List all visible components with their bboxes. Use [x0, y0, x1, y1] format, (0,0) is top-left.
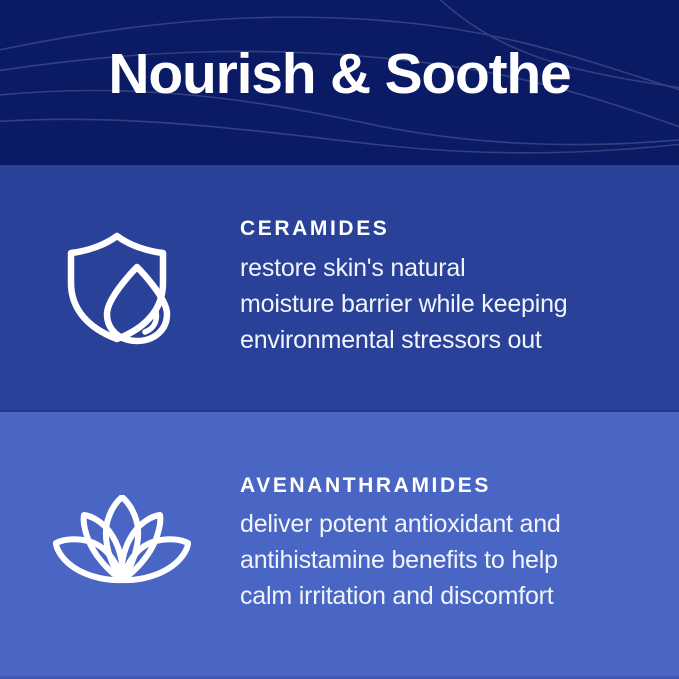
ingredient-name-ceramides: CERAMIDES — [240, 217, 655, 240]
description-line: environmental stressors out — [240, 322, 655, 358]
ceramides-text-cell: CERAMIDES restore skin's natural moistur… — [240, 217, 679, 357]
description-line: deliver potent antioxidant and — [240, 506, 655, 542]
section-avenanthramides: AVENANTHRAMIDES deliver potent antioxida… — [0, 412, 679, 679]
description-line: moisture barrier while keeping — [240, 286, 655, 322]
avenanthramides-icon-cell — [0, 412, 240, 676]
description-line: antihistamine benefits to help — [240, 542, 655, 578]
page-title: Nourish & Soothe — [0, 46, 679, 103]
ingredient-description-ceramides: restore skin's natural moisture barrier … — [240, 250, 655, 358]
header-band: Nourish & Soothe — [0, 0, 679, 165]
ingredient-benefits-infographic: Nourish & Soothe CERAMIDES restore skin'… — [0, 0, 679, 679]
lotus-flower-icon — [52, 495, 192, 587]
section-ceramides: CERAMIDES restore skin's natural moistur… — [0, 165, 679, 412]
description-line: calm irritation and discomfort — [240, 578, 655, 614]
ingredient-name-avenanthramides: AVENANTHRAMIDES — [240, 474, 655, 497]
avenanthramides-text-cell: AVENANTHRAMIDES deliver potent antioxida… — [240, 474, 679, 614]
ingredient-description-avenanthramides: deliver potent antioxidant and antihista… — [240, 506, 655, 614]
ceramides-icon-cell — [0, 165, 240, 410]
description-line: restore skin's natural — [240, 250, 655, 286]
shield-droplet-icon — [58, 227, 183, 345]
